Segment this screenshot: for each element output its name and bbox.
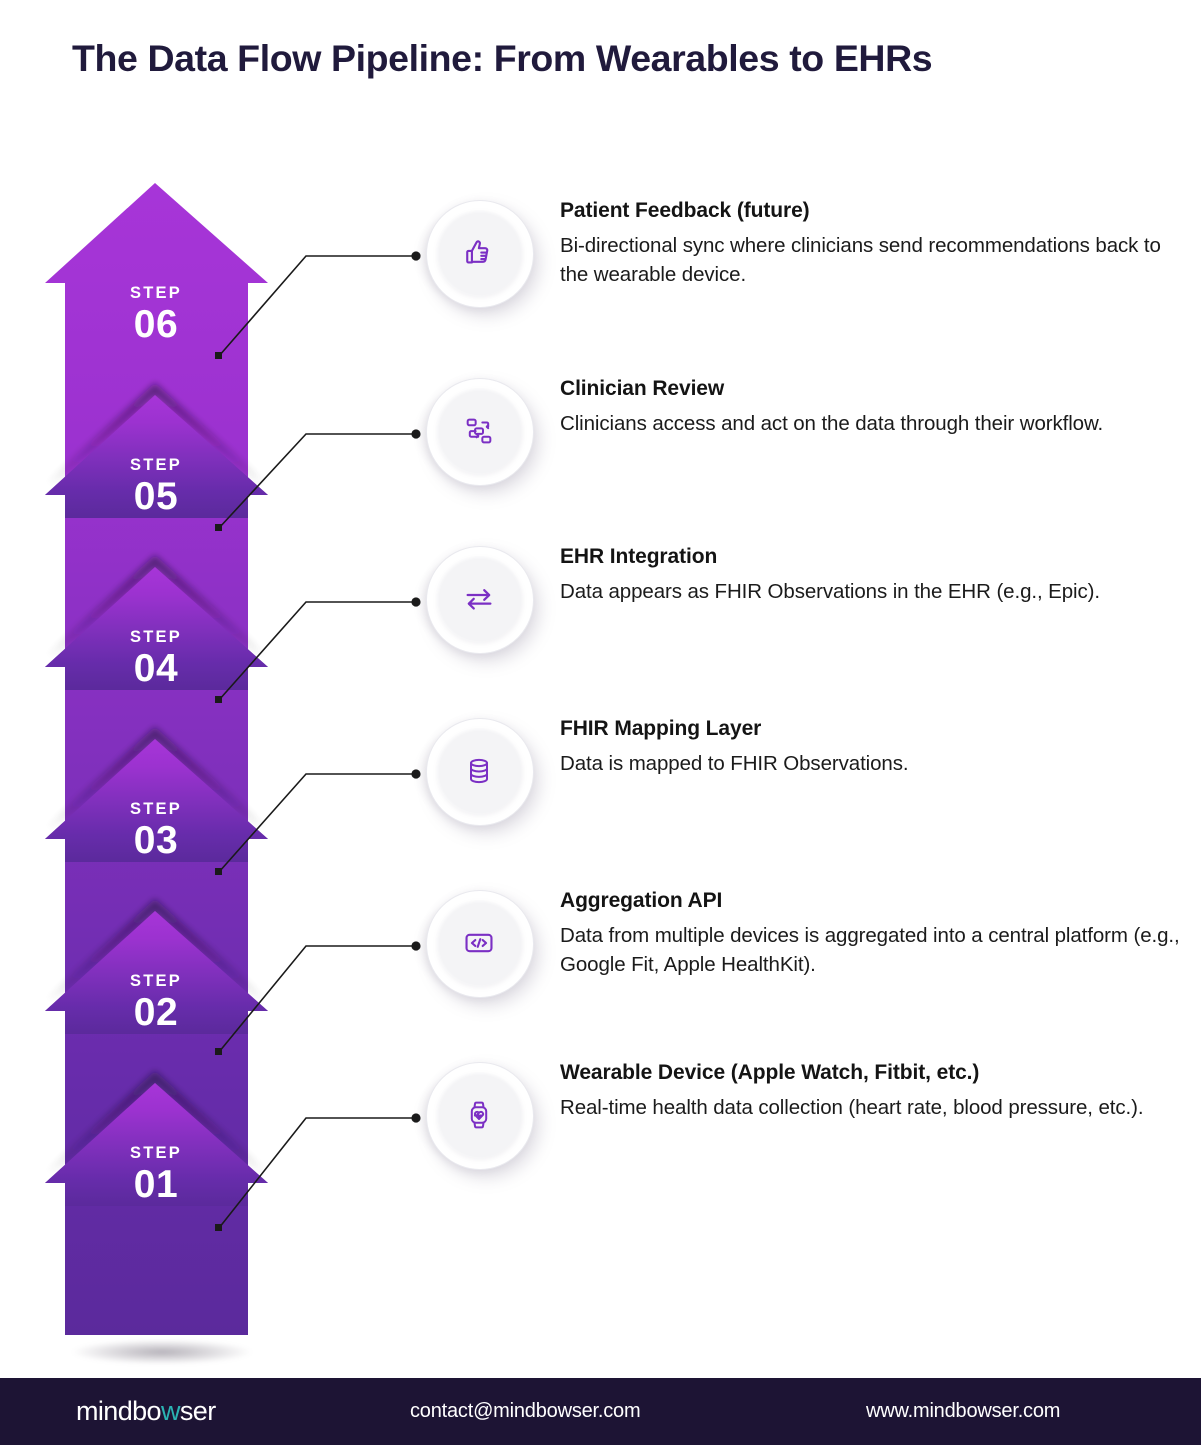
step-description: Data is mapped to FHIR Observations. bbox=[560, 749, 1180, 778]
exchange-arrows-icon bbox=[462, 582, 496, 616]
badge-inner-disc bbox=[436, 556, 522, 642]
arrow-shape bbox=[0, 150, 330, 1350]
step-description: Bi-directional sync where clinicians sen… bbox=[560, 231, 1180, 289]
step-icon-badge bbox=[420, 888, 536, 1004]
step-text-block: Wearable Device (Apple Watch, Fitbit, et… bbox=[560, 1060, 1180, 1122]
step-description: Data from multiple devices is aggregated… bbox=[560, 921, 1180, 979]
badge-inner-disc bbox=[436, 728, 522, 814]
step-title: EHR Integration bbox=[560, 544, 1180, 570]
step-title: Aggregation API bbox=[560, 888, 1180, 914]
badge-inner-disc bbox=[436, 210, 522, 296]
step-icon-badge bbox=[420, 198, 536, 314]
step-text-block: Patient Feedback (future) Bi-directional… bbox=[560, 198, 1180, 289]
step-title: Wearable Device (Apple Watch, Fitbit, et… bbox=[560, 1060, 1180, 1086]
database-icon bbox=[464, 756, 494, 786]
thumbs-up-icon bbox=[462, 236, 496, 270]
logo-part-1: mindbo bbox=[76, 1396, 161, 1426]
page-title: The Data Flow Pipeline: From Wearables t… bbox=[72, 36, 1162, 81]
step-text-block: Clinician Review Clinicians access and a… bbox=[560, 376, 1180, 438]
mindbowser-logo: mindbowser bbox=[76, 1396, 216, 1427]
step-description: Data appears as FHIR Observations in the… bbox=[560, 577, 1180, 606]
workflow-icon bbox=[463, 415, 495, 447]
step-title: FHIR Mapping Layer bbox=[560, 716, 1180, 742]
badge-inner-disc bbox=[436, 1072, 522, 1158]
badge-inner-disc bbox=[436, 900, 522, 986]
step-icon-badge bbox=[420, 1060, 536, 1176]
badge-inner-disc bbox=[436, 388, 522, 474]
step-icon-badge bbox=[420, 376, 536, 492]
footer-bar: mindbowser contact@mindbowser.com www.mi… bbox=[0, 1378, 1201, 1445]
step-arrow-graphic: STEP 06 STEP 05 STEP 04 STEP 03 STEP 02 … bbox=[0, 150, 330, 1350]
step-description: Real-time health data collection (heart … bbox=[560, 1093, 1180, 1122]
logo-accent-letter: w bbox=[161, 1396, 180, 1426]
logo-part-2: ser bbox=[180, 1396, 216, 1426]
smartwatch-heart-icon bbox=[463, 1099, 495, 1131]
footer-email[interactable]: contact@mindbowser.com bbox=[410, 1400, 640, 1423]
infographic-page: The Data Flow Pipeline: From Wearables t… bbox=[0, 0, 1201, 1445]
step-text-block: Aggregation API Data from multiple devic… bbox=[560, 888, 1180, 979]
step-text-block: EHR Integration Data appears as FHIR Obs… bbox=[560, 544, 1180, 606]
footer-website[interactable]: www.mindbowser.com bbox=[866, 1400, 1060, 1423]
step-icon-badge bbox=[420, 544, 536, 660]
step-title: Patient Feedback (future) bbox=[560, 198, 1180, 224]
step-description: Clinicians access and act on the data th… bbox=[560, 409, 1180, 438]
step-text-block: FHIR Mapping Layer Data is mapped to FHI… bbox=[560, 716, 1180, 778]
step-title: Clinician Review bbox=[560, 376, 1180, 402]
code-brackets-icon bbox=[462, 926, 496, 960]
step-icon-badge bbox=[420, 716, 536, 832]
